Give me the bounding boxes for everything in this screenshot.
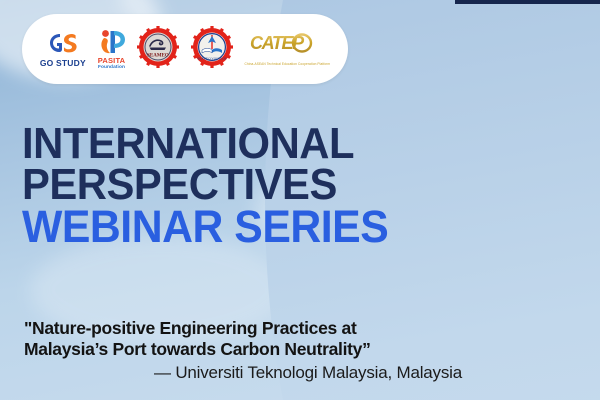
pasita-sublabel: Foundation bbox=[98, 65, 125, 70]
partner-logo-go-study: GO STUDY bbox=[40, 30, 86, 68]
top-edge-accent-line bbox=[455, 0, 600, 4]
partner-logo-seameo-voctech: SEAMEO VOCTECH bbox=[191, 26, 233, 73]
go-study-icon bbox=[48, 30, 78, 56]
catep-icon: CATEP bbox=[250, 33, 324, 60]
poster-headline: INTERNATIONAL PERSPECTIVES WEBINAR SERIE… bbox=[22, 124, 422, 248]
seameo-voctech-icon: SEAMEO VOCTECH bbox=[191, 26, 233, 73]
go-study-label: GO STUDY bbox=[40, 58, 86, 68]
svg-text:SEAMEO VOCTECH: SEAMEO VOCTECH bbox=[197, 56, 227, 60]
svg-text:SEAMEO: SEAMEO bbox=[147, 53, 169, 58]
partner-logo-bar: GO STUDY PASITA Foundation bbox=[22, 14, 348, 84]
session-title-line-2: Malaysia’s Port towards Carbon Neutralit… bbox=[24, 339, 484, 359]
pasita-label: PASITA bbox=[98, 56, 126, 65]
headline-line-2: PERSPECTIVES bbox=[22, 165, 402, 206]
partner-logo-seameo: SEAMEO bbox=[137, 26, 179, 73]
partner-logo-catep: CATEP China-ASEAN Technical Education Co… bbox=[245, 33, 331, 66]
pasita-icon bbox=[98, 29, 126, 55]
seameo-icon: SEAMEO bbox=[137, 26, 179, 73]
poster-canvas: GO STUDY PASITA Foundation bbox=[0, 0, 600, 400]
catep-sublabel: China-ASEAN Technical Education Cooperat… bbox=[245, 62, 331, 66]
session-affiliation: — Universiti Teknologi Malaysia, Malaysi… bbox=[24, 363, 484, 383]
partner-logo-pasita: PASITA Foundation bbox=[98, 29, 126, 70]
session-title-line-1: "Nature-positive Engineering Practices a… bbox=[24, 318, 484, 338]
headline-line-1: INTERNATIONAL bbox=[22, 124, 402, 165]
headline-line-3: WEBINAR SERIES bbox=[22, 206, 402, 248]
session-details: "Nature-positive Engineering Practices a… bbox=[24, 318, 484, 383]
